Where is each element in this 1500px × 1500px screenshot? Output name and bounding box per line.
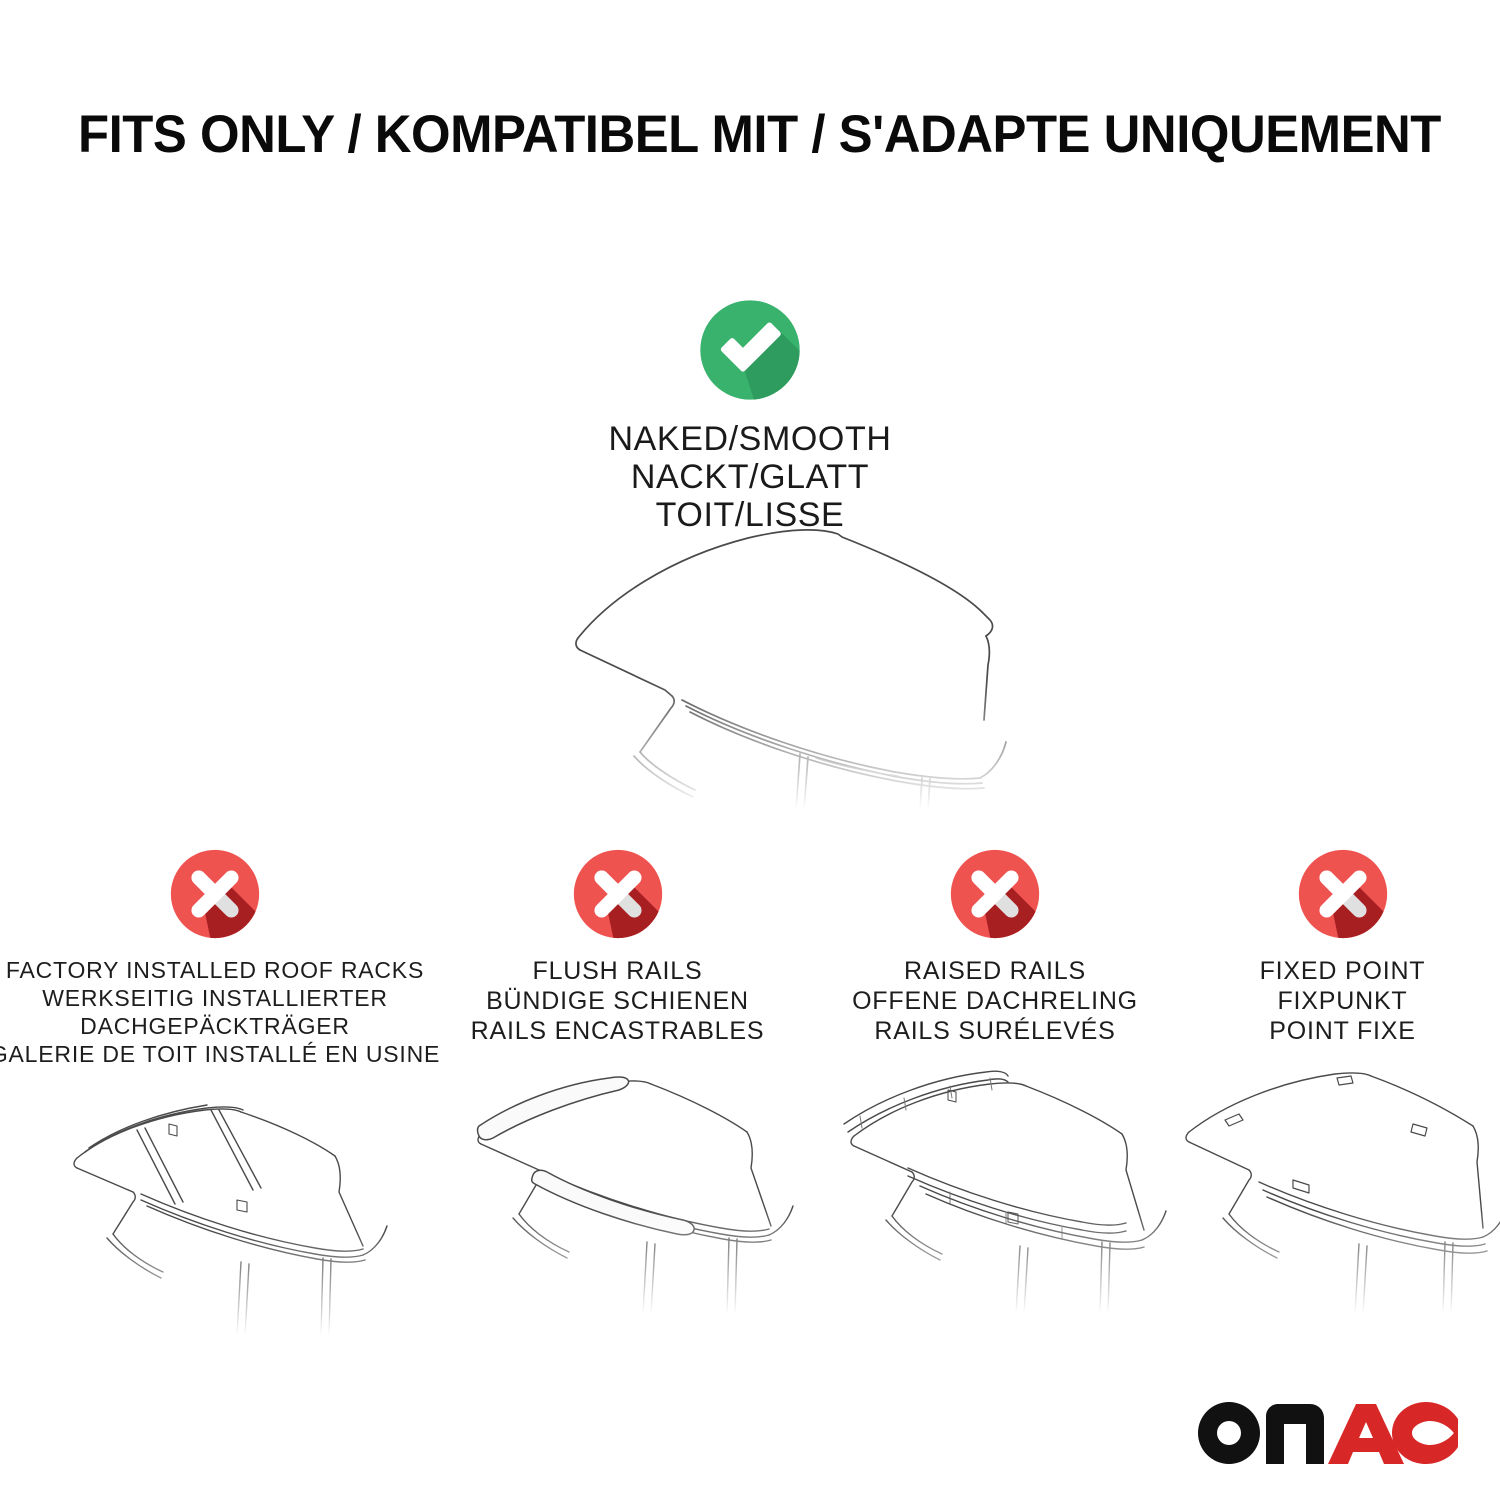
car-roof-naked-smooth-illustration bbox=[490, 520, 1030, 810]
rejected-item-flush-rails: FLUSH RAILS BÜNDIGE SCHIENEN RAILS ENCAS… bbox=[430, 846, 805, 1314]
page-title: FITS ONLY / KOMPATIBEL MIT / S'ADAPTE UN… bbox=[78, 104, 1374, 166]
rejected-label-fr: RAILS ENCASTRABLES bbox=[471, 1016, 765, 1046]
fitment-compatibility-page: FITS ONLY / KOMPATIBEL MIT / S'ADAPTE UN… bbox=[0, 0, 1500, 1500]
x-circle-icon bbox=[947, 846, 1043, 942]
approved-section: NAKED/SMOOTH NACKT/GLATT TOIT/LISSE bbox=[0, 296, 1500, 534]
rejected-label-fr: GALERIE DE TOIT INSTALLÉ EN USINE bbox=[0, 1040, 440, 1068]
rejected-section: FACTORY INSTALLED ROOF RACKS WERKSEITIG … bbox=[0, 846, 1500, 1336]
x-circle-icon bbox=[570, 846, 666, 942]
rejected-label-group: FACTORY INSTALLED ROOF RACKS WERKSEITIG … bbox=[0, 956, 440, 1068]
rejected-label-en: RAISED RAILS bbox=[852, 956, 1138, 986]
car-roof-flush-rails-illustration bbox=[423, 1064, 813, 1314]
rejected-label-fr: RAILS SURÉLEVÉS bbox=[852, 1016, 1138, 1046]
rejected-label-de-2: DACHGEPÄCKTRÄGER bbox=[0, 1012, 440, 1040]
rejected-label-group: RAISED RAILS OFFENE DACHRELING RAILS SUR… bbox=[852, 956, 1138, 1046]
rejected-label-en: FLUSH RAILS bbox=[471, 956, 765, 986]
rejected-label-group: FLUSH RAILS BÜNDIGE SCHIENEN RAILS ENCAS… bbox=[471, 956, 765, 1046]
approved-label-de: NACKT/GLATT bbox=[0, 458, 1500, 496]
rejected-label-de: BÜNDIGE SCHIENEN bbox=[471, 986, 765, 1016]
x-circle-icon bbox=[1295, 846, 1391, 942]
check-circle-icon bbox=[696, 296, 804, 404]
omac-logo-mark bbox=[1198, 1402, 1458, 1464]
car-roof-fixed-point-illustration bbox=[1163, 1064, 1500, 1314]
car-roof-raised-rails-illustration bbox=[800, 1064, 1190, 1314]
car-roof-factory-rack-illustration bbox=[15, 1086, 415, 1336]
rejected-label-group: FIXED POINT FIXPUNKT POINT FIXE bbox=[1260, 956, 1426, 1046]
rejected-label-en: FACTORY INSTALLED ROOF RACKS bbox=[0, 956, 440, 984]
x-circle-icon bbox=[167, 846, 263, 942]
rejected-item-fixed-point: FIXED POINT FIXPUNKT POINT FIXE bbox=[1185, 846, 1500, 1314]
omac-logo bbox=[1198, 1402, 1458, 1464]
rejected-item-factory-rack: FACTORY INSTALLED ROOF RACKS WERKSEITIG … bbox=[0, 846, 430, 1336]
rejected-label-fr: POINT FIXE bbox=[1260, 1016, 1426, 1046]
approved-label-en: NAKED/SMOOTH bbox=[0, 420, 1500, 458]
rejected-label-de: OFFENE DACHRELING bbox=[852, 986, 1138, 1016]
rejected-label-de-1: WERKSEITIG INSTALLIERTER bbox=[0, 984, 440, 1012]
rejected-item-raised-rails: RAISED RAILS OFFENE DACHRELING RAILS SUR… bbox=[805, 846, 1185, 1314]
approved-label-group: NAKED/SMOOTH NACKT/GLATT TOIT/LISSE bbox=[0, 420, 1500, 534]
rejected-label-en: FIXED POINT bbox=[1260, 956, 1426, 986]
rejected-label-de: FIXPUNKT bbox=[1260, 986, 1426, 1016]
